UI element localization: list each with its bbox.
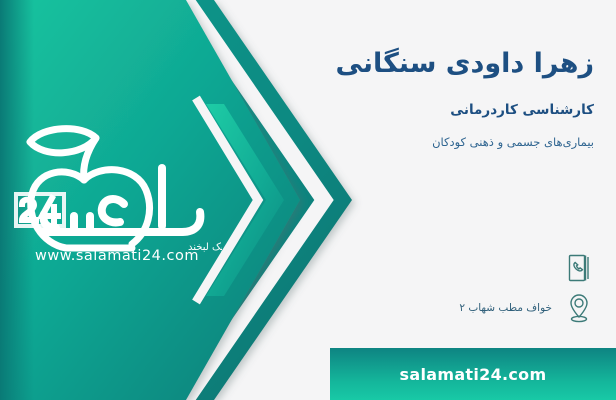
location-pin-icon: [562, 289, 596, 327]
business-card: با راحتی یک لبخند www.salamati24.com زهر…: [0, 0, 616, 400]
footer-website-text: salamati24.com: [400, 365, 547, 384]
brand-logo: با راحتی یک لبخند www.salamati24.com: [12, 108, 222, 278]
profile-name: زهرا داودی سنگانی: [174, 46, 594, 81]
contact-block: خواف مطب شهاب ۲: [296, 248, 596, 328]
phone-book-icon: [562, 249, 596, 287]
footer-website-bar[interactable]: salamati24.com: [330, 348, 616, 400]
contact-row-phone[interactable]: [296, 248, 596, 288]
profile-degree: کارشناسی کاردرمانی: [174, 102, 594, 118]
contact-row-address[interactable]: خواف مطب شهاب ۲: [296, 288, 596, 328]
logo-website-url: www.salamati24.com: [12, 248, 222, 264]
apple-leaf-icon: با راحتی یک لبخند: [12, 108, 222, 258]
profile-specialty: بیماری‌های جسمی و ذهنی کودکان: [174, 135, 594, 149]
contact-address-text: خواف مطب شهاب ۲: [459, 302, 552, 314]
